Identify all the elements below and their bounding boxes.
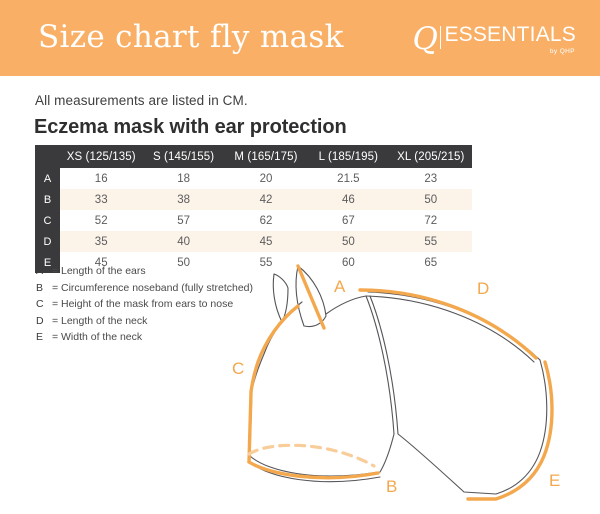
cell-d-xs: 35 (60, 231, 142, 252)
cell-d-xl: 55 (390, 231, 472, 252)
row-label-b: B (35, 189, 60, 210)
cell-a-xs: 16 (60, 168, 142, 189)
row-label-c: C (35, 210, 60, 231)
legend-text-b: Circumference noseband (fully stretched) (61, 282, 253, 294)
measure-line-b-back-dashed (249, 445, 374, 466)
logo-q-mark: Q (413, 24, 438, 54)
cell-d-l: 50 (307, 231, 389, 252)
legend-text-e: Width of the neck (61, 331, 142, 343)
cell-d-s: 40 (142, 231, 224, 252)
cell-c-s: 57 (142, 210, 224, 231)
diagram-label-b: B (386, 477, 397, 496)
cell-c-xs: 52 (60, 210, 142, 231)
legend-equals: = (52, 298, 61, 310)
neck-seam-inner (370, 296, 398, 434)
legend-text-a: Length of the ears (61, 265, 146, 277)
row-label-d: D (35, 231, 60, 252)
column-header-s: S (145/155) (142, 145, 224, 168)
fly-mask-diagram: A B C D E (228, 258, 600, 514)
legend-equals: = (52, 315, 61, 327)
cell-b-m: 42 (225, 189, 307, 210)
table-row: A 16 18 20 21.5 23 (35, 168, 472, 189)
mask-crown-edge (326, 296, 366, 314)
brand-logo: Q ESSENTIALS by QHP (413, 24, 576, 64)
table-row: B 33 38 42 46 50 (35, 189, 472, 210)
page-header-banner: Size chart fly mask Q ESSENTIALS by QHP (0, 0, 600, 76)
diagram-label-d: D (477, 279, 489, 298)
legend-key-d: D (36, 315, 52, 327)
cell-b-xl: 50 (390, 189, 472, 210)
neck-bottom-outline (398, 434, 496, 494)
table-corner-cell (35, 145, 60, 168)
row-label-a: A (35, 168, 60, 189)
cell-a-xl: 23 (390, 168, 472, 189)
column-header-l: L (185/195) (307, 145, 389, 168)
cell-b-l: 46 (307, 189, 389, 210)
diagram-label-a: A (334, 277, 346, 296)
legend-text-d: Length of the neck (61, 315, 147, 327)
measure-line-e (468, 362, 552, 499)
logo-wordmark: ESSENTIALS (444, 24, 576, 46)
legend-text-c: Height of the mask from ears to nose (61, 298, 233, 310)
cell-b-s: 38 (142, 189, 224, 210)
neck-seam-outer (366, 296, 394, 434)
measurement-note: All measurements are listed in CM. (35, 93, 248, 108)
mask-outline-group (250, 266, 547, 494)
cell-c-l: 67 (307, 210, 389, 231)
cell-c-m: 62 (225, 210, 307, 231)
cell-b-xs: 33 (60, 189, 142, 210)
neck-right-outline (496, 360, 547, 494)
column-header-xl: XL (205/215) (390, 145, 472, 168)
table-header-row: XS (125/135) S (145/155) M (165/175) L (… (35, 145, 472, 168)
measure-line-c (249, 306, 298, 462)
mask-lower-right-edge (380, 434, 394, 472)
legend-key-a: A (36, 265, 52, 277)
legend-equals: = (52, 265, 61, 277)
legend-equals: = (52, 331, 61, 343)
column-header-xs: XS (125/135) (60, 145, 142, 168)
size-chart-table: XS (125/135) S (145/155) M (165/175) L (… (35, 145, 472, 273)
measurement-indicators-group (249, 266, 552, 499)
cell-a-s: 18 (142, 168, 224, 189)
product-subtitle: Eczema mask with ear protection (34, 116, 347, 139)
mask-left-edge (250, 302, 302, 456)
diagram-label-c: C (232, 359, 244, 378)
logo-text-group: ESSENTIALS by QHP (444, 24, 576, 55)
cell-a-m: 20 (225, 168, 307, 189)
legend-key-c: C (36, 298, 52, 310)
measure-line-d (360, 290, 536, 358)
legend-key-e: E (36, 331, 52, 343)
table-header: XS (125/135) S (145/155) M (165/175) L (… (35, 145, 472, 168)
diagram-label-e: E (549, 471, 560, 490)
page-title: Size chart fly mask (38, 19, 344, 55)
cell-a-l: 21.5 (307, 168, 389, 189)
logo-subtext: by QHP (550, 48, 575, 55)
cell-c-xl: 72 (390, 210, 472, 231)
neck-top-outline-double (368, 292, 540, 360)
table-row: D 35 40 45 50 55 (35, 231, 472, 252)
legend-equals: = (52, 282, 61, 294)
column-header-m: M (165/175) (225, 145, 307, 168)
fly-mask-illustration: A B C D E (228, 258, 600, 514)
logo-divider-bar (440, 26, 442, 49)
legend-key-b: B (36, 282, 52, 294)
cell-d-m: 45 (225, 231, 307, 252)
table-row: C 52 57 62 67 72 (35, 210, 472, 231)
